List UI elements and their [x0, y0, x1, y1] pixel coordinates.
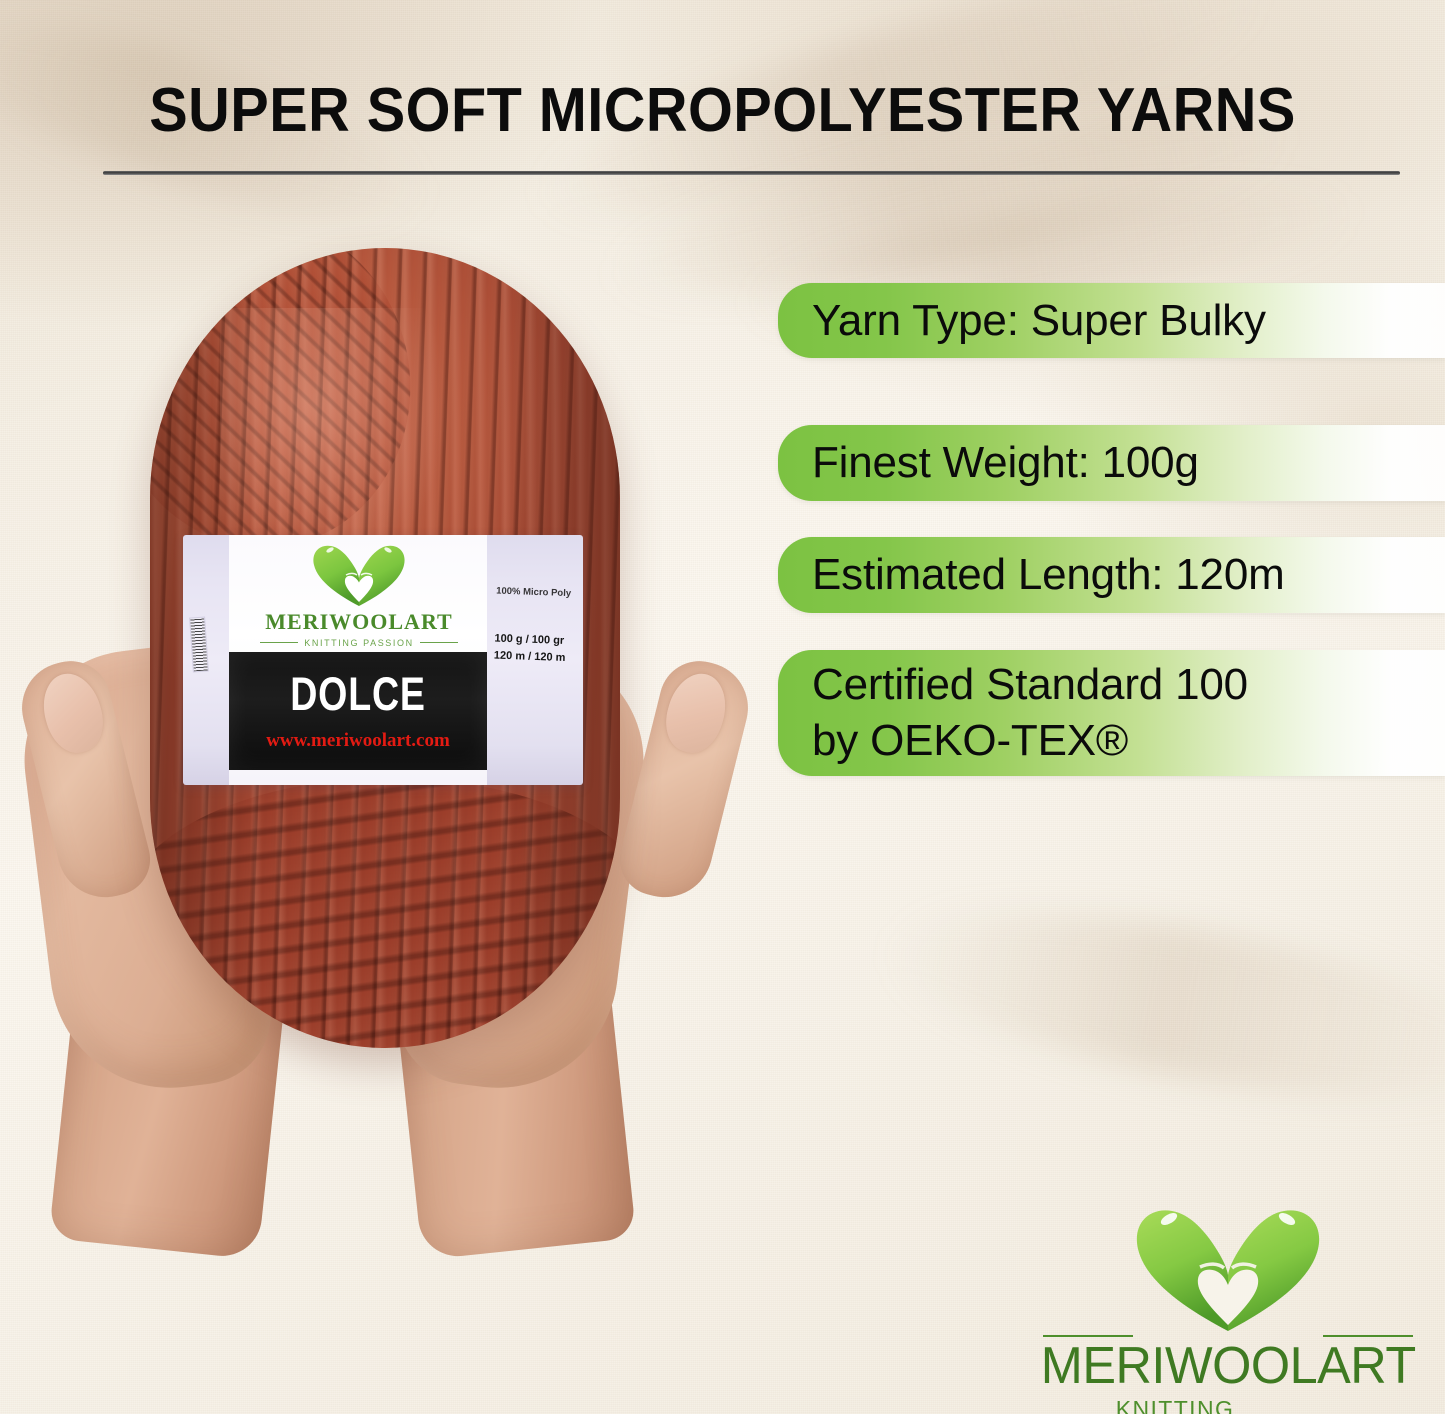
feature-badge-label: Finest Weight: 100g: [812, 437, 1199, 489]
meriwoolart-heart-hands-icon: [309, 541, 409, 609]
label-tagline-row: KNITTING PASSION: [247, 635, 471, 650]
feature-badge-label: Yarn Type: Super Bulky: [812, 295, 1266, 347]
background-shadow-streak: [872, 876, 1445, 1135]
product-name: DOLCE: [255, 668, 461, 720]
product-photo: MERIWOOLART KNITTING PASSION DOLCE www.m…: [0, 230, 770, 1240]
label-weight: 100 g / 100 gr: [494, 633, 580, 647]
label-brand-logo: MERIWOOLART KNITTING PASSION: [247, 541, 471, 650]
meriwoolart-heart-hands-icon: [1128, 1203, 1328, 1335]
poster-canvas: SUPER SOFT MICROPOLYESTER YARNS: [0, 0, 1445, 1414]
feature-badge-weight[interactable]: Finest Weight: 100g: [778, 425, 1445, 501]
label-tagline-rule-right: [420, 642, 458, 643]
feature-badge-length[interactable]: Estimated Length: 120m: [778, 537, 1445, 613]
title-divider: [103, 171, 1400, 175]
feature-badge-label: Estimated Length: 120m: [812, 549, 1285, 601]
barcode-sticker: [189, 617, 209, 673]
feature-badge-label: Certified Standard 100 by OEKO-TEX®: [812, 657, 1248, 769]
label-brand-name: MERIWOOLART: [247, 609, 471, 635]
footer-brand-logo: MERIWOOLART KNITTING PASSION: [1043, 1203, 1413, 1414]
page-title: SUPER SOFT MICROPOLYESTER YARNS: [51, 78, 1395, 144]
brand-name: MERIWOOLART: [1041, 1338, 1416, 1394]
feature-badge-yarn-type[interactable]: Yarn Type: Super Bulky: [778, 283, 1445, 358]
label-side-specs: 100% Micro Poly 100 g / 100 gr 120 m / 1…: [494, 586, 583, 665]
label-tagline-rule-left: [260, 642, 298, 643]
brand-name-row: MERIWOOLART: [1043, 1338, 1413, 1394]
label-composition: 100% Micro Poly: [496, 586, 582, 600]
feature-badge-certification[interactable]: Certified Standard 100 by OEKO-TEX®: [778, 650, 1445, 776]
yarn-band-label: MERIWOOLART KNITTING PASSION DOLCE www.m…: [183, 535, 583, 785]
product-website: www.meriwoolart.com: [229, 730, 487, 752]
brand-tagline-row: KNITTING PASSION: [1043, 1396, 1413, 1414]
brand-tagline: KNITTING PASSION: [1116, 1396, 1341, 1414]
label-tagline: KNITTING PASSION: [304, 636, 413, 650]
label-length: 120 m / 120 m: [494, 650, 580, 664]
label-black-band: DOLCE www.meriwoolart.com: [229, 652, 487, 770]
feature-list: Yarn Type: Super Bulky Finest Weight: 10…: [778, 283, 1445, 776]
